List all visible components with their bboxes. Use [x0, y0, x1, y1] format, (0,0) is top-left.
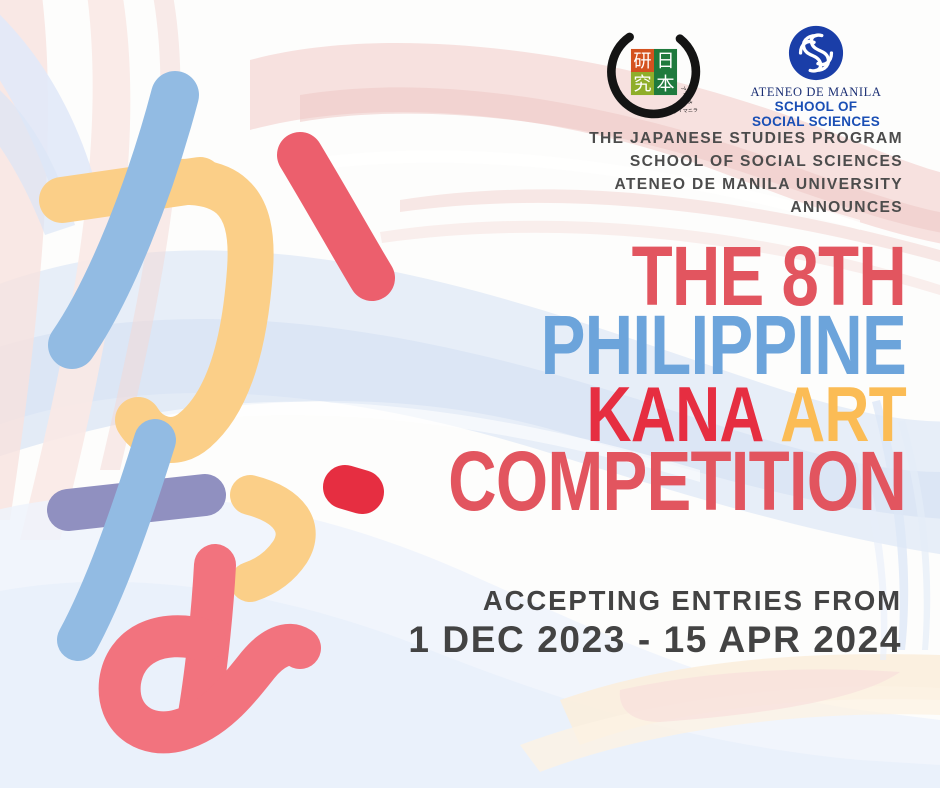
- poster-canvas: 研 日 究 本 アテネオ アテネオ・デ・マニラ: [0, 0, 940, 788]
- entry-date-range: 1 DEC 2023 - 15 APR 2024: [408, 619, 902, 661]
- title-line-philippine: PHILIPPINE: [426, 312, 906, 379]
- header-line-1: THE JAPANESE STUDIES PROGRAM: [589, 128, 903, 151]
- ateneo-school-line1: SCHOOL OF: [775, 100, 858, 115]
- entry-period-block: ACCEPTING ENTRIES FROM 1 DEC 2023 - 15 A…: [408, 585, 902, 661]
- ateneo-logo-block: ATENEO DE MANILA SCHOOL OF SOCIAL SCIENC…: [728, 24, 904, 129]
- header-line-4: ANNOUNCES: [589, 197, 903, 220]
- svg-text:本: 本: [656, 74, 674, 95]
- announcement-header: THE JAPANESE STUDIES PROGRAM SCHOOL OF S…: [589, 128, 903, 220]
- svg-text:究: 究: [633, 74, 651, 95]
- ateneo-name-line: ATENEO DE MANILA: [750, 85, 881, 100]
- header-line-2: SCHOOL OF SOCIAL SCIENCES: [589, 151, 903, 174]
- ateneo-school-line2: SOCIAL SCIENCES: [752, 115, 880, 130]
- japanese-studies-program-logo: 研 日 究 本 アテネオ アテネオ・デ・マニラ: [606, 24, 702, 120]
- svg-text:日: 日: [656, 51, 674, 72]
- svg-text:研: 研: [633, 51, 651, 72]
- event-title: THE 8TH PHILIPPINE KANA ART COMPETITION: [306, 243, 906, 515]
- accepting-entries-label: ACCEPTING ENTRIES FROM: [408, 585, 902, 617]
- header-line-3: ATENEO DE MANILA UNIVERSITY: [589, 174, 903, 197]
- logo-row: 研 日 究 本 アテネオ アテネオ・デ・マニラ: [606, 24, 904, 129]
- ateneo-seal-icon: [787, 24, 845, 82]
- title-line-competition: COMPETITION: [426, 448, 906, 515]
